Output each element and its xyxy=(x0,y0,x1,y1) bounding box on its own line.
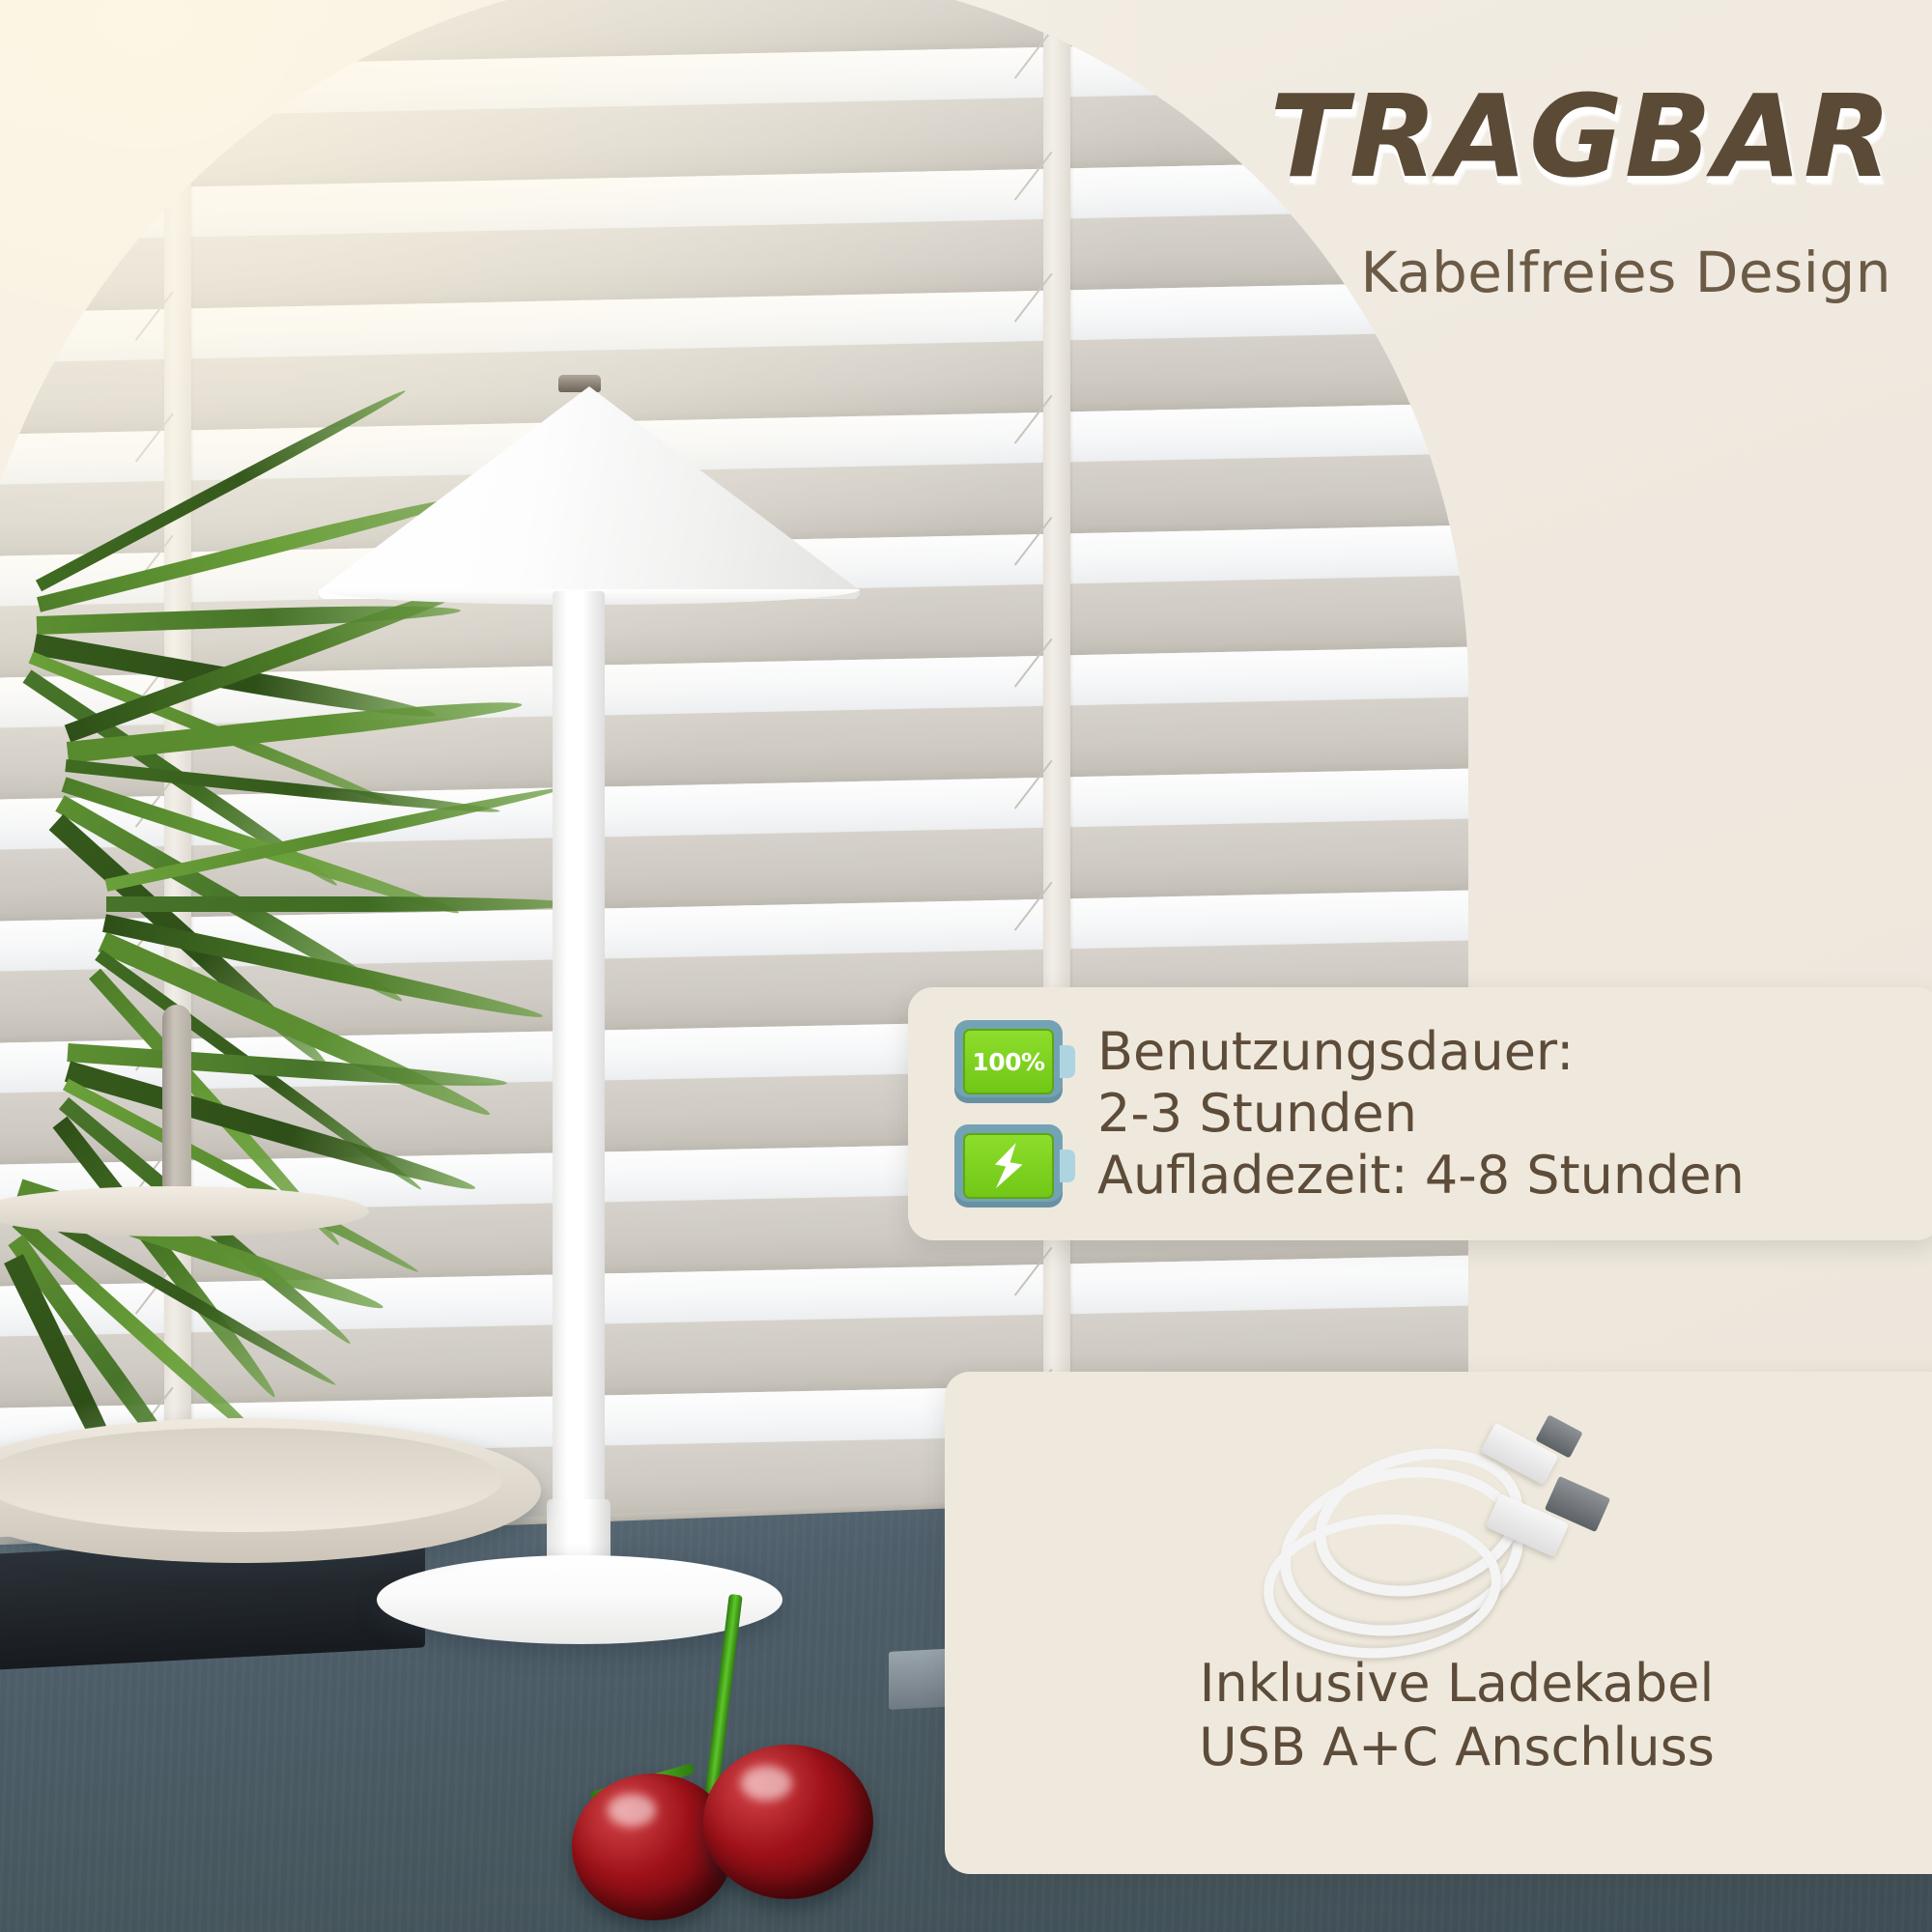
cable-info-text: Inklusive Ladekabel USB A+C Anschluss xyxy=(1199,1652,1715,1779)
battery-charging-icon xyxy=(954,1124,1063,1207)
battery-info-text: Benutzungsdauer: 2-3 Stunden Aufladezeit… xyxy=(1097,1021,1745,1206)
lamp-shade xyxy=(319,386,860,599)
page-title: TRAGBAR xyxy=(1269,79,1893,193)
battery-info-card: 100% Benutzungsdauer: 2-3 Stunden Auflad… xyxy=(908,987,1932,1240)
lamp-finial xyxy=(558,375,601,392)
page-subtitle: Kabelfreies Design xyxy=(1360,240,1891,305)
cable-included-label: Inklusive Ladekabel xyxy=(1199,1652,1715,1716)
battery-terminal-nub xyxy=(1060,1045,1075,1078)
battery-full-icon: 100% xyxy=(954,1020,1063,1103)
battery-terminal-nub xyxy=(1060,1150,1075,1182)
usb-charging-cable-icon xyxy=(1254,1414,1660,1646)
usage-duration-label: Benutzungsdauer: xyxy=(1097,1021,1745,1083)
product-marketing-image: TRAGBAR Kabelfreies Design 100% Benutzun… xyxy=(0,0,1932,1932)
cable-info-card: Inklusive Ladekabel USB A+C Anschluss xyxy=(945,1372,1932,1874)
battery-full-fill: 100% xyxy=(963,1029,1054,1094)
charging-time-line: Aufladezeit: 4-8 Stunden xyxy=(1097,1145,1745,1207)
serving-tray-inner xyxy=(0,1428,502,1532)
lamp-stem xyxy=(553,591,605,1557)
lightning-bolt-icon xyxy=(983,1139,1034,1194)
cherry-right xyxy=(703,1745,873,1899)
battery-charging-fill xyxy=(963,1133,1054,1199)
usage-duration-value: 2-3 Stunden xyxy=(1097,1083,1745,1145)
battery-percent-label: 100% xyxy=(972,1048,1044,1076)
battery-icon-group: 100% xyxy=(954,1020,1063,1207)
cable-ports-label: USB A+C Anschluss xyxy=(1199,1716,1715,1779)
lamp-base xyxy=(377,1555,782,1644)
